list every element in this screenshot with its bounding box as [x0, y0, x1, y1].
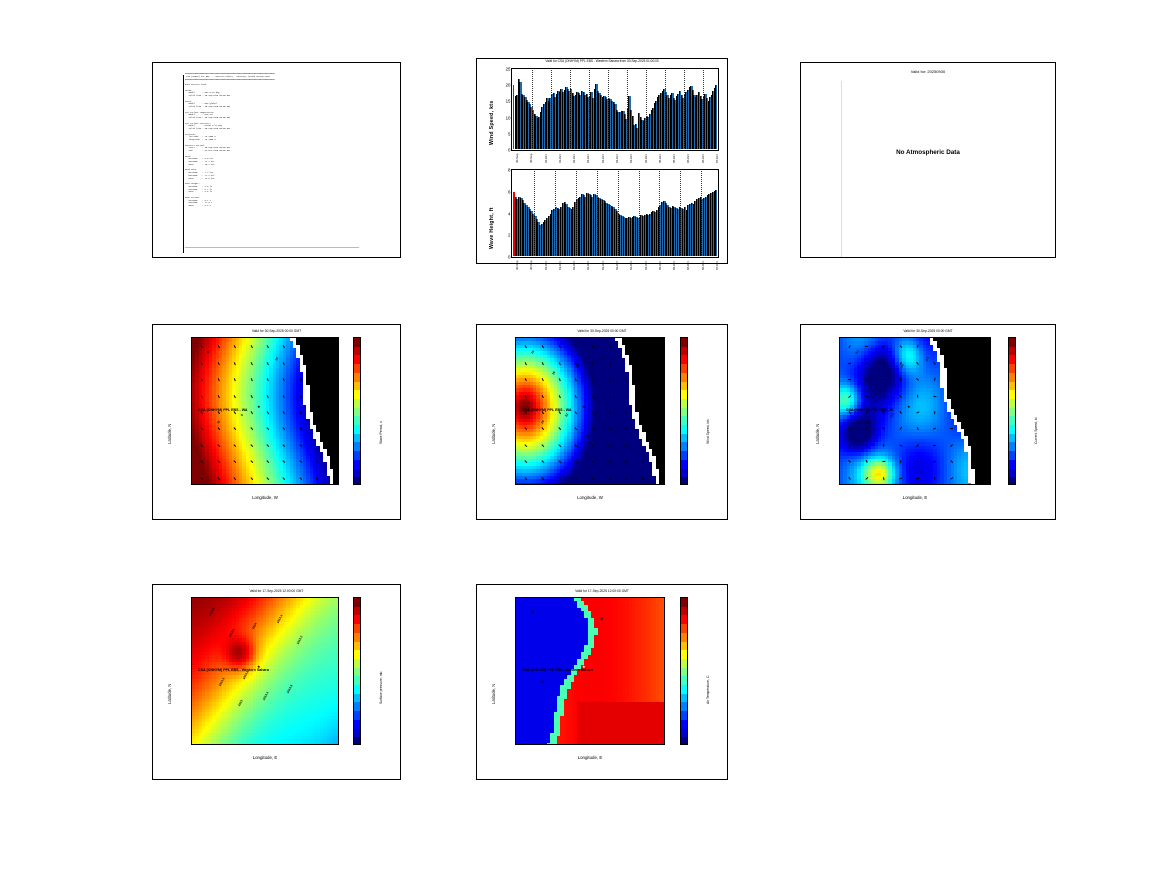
- x-tick-label: 03-Oct: [601, 154, 605, 163]
- x-tick-label: 04-Oct: [644, 154, 648, 163]
- colorbar-segment: [354, 442, 360, 451]
- wave-height-bars: [513, 171, 717, 256]
- colorbar-segment: [354, 399, 360, 408]
- colorbar-segment: [681, 355, 687, 364]
- x-tick-label: 02-Oct: [586, 154, 590, 163]
- timeseries-panel: Valid for CSA (ONHYM) PPL EBS - Western …: [476, 58, 728, 264]
- bar: [715, 190, 717, 256]
- colorbar-segment: [354, 382, 360, 391]
- gridline: [597, 171, 598, 256]
- x-tick-label: 04-Oct: [644, 261, 648, 270]
- gridline: [555, 171, 556, 256]
- report-text: ========================================…: [185, 73, 396, 255]
- map-title: Valid for 30-Sep-2025 00:00 GMT: [801, 329, 1055, 333]
- timeseries-title: Valid for CSA (ONHYM) PPL EBS - Western …: [477, 59, 727, 63]
- colorbar-segment: [681, 469, 687, 478]
- colorbar-segment: [681, 347, 687, 356]
- gridline: [684, 70, 685, 149]
- colorbar-segment: [681, 460, 687, 469]
- x-tick-label: 03-Oct: [615, 154, 619, 163]
- gridline: [576, 171, 577, 256]
- gridline: [532, 70, 533, 149]
- site-marker-star: ★: [582, 405, 586, 409]
- atmos-rule: [841, 81, 842, 257]
- wave-height-ylabel: Wave Height, ft: [489, 207, 495, 249]
- colorbar-segment: [681, 338, 687, 347]
- x-tick-label: 06-Oct: [686, 261, 690, 270]
- y-tick-label: 6: [508, 189, 510, 194]
- x-tick-label: 03-Oct: [615, 261, 619, 270]
- x-tick-label: 02-Oct: [572, 154, 576, 163]
- colorbar-segment: [681, 408, 687, 417]
- colorbar-segment: [681, 442, 687, 451]
- gridline: [608, 70, 609, 149]
- x-tick-label: 05-Oct: [658, 261, 662, 270]
- colorbar-segment: [681, 373, 687, 382]
- y-tick-label: 20: [506, 83, 511, 88]
- colorbar-label: Wind Speed, kts: [706, 419, 710, 444]
- gridline: [627, 70, 628, 149]
- contour-cell: [663, 483, 665, 485]
- atmos-title: Valid for: 20250930: [801, 69, 1055, 74]
- colorbar-segment: [681, 390, 687, 399]
- wind-speed-map-panel: Valid for 30-Sep-2025 00:00 GMT212223201…: [476, 324, 728, 520]
- colorbar-segment: [354, 373, 360, 382]
- colorbar-segment: [681, 451, 687, 460]
- wind-speed-bars: [513, 70, 717, 149]
- x-tick-label: 30-Sep: [529, 261, 533, 270]
- colorbar-segment: [681, 477, 687, 485]
- map-xlabel: Longitude, W: [191, 495, 339, 500]
- wave-period-map-panel: Valid for 30-Sep-2025 00:00 GMT891011CSA…: [152, 324, 401, 520]
- wind-speed-axes: 0510152025: [511, 68, 719, 151]
- y-tick-label: 2: [508, 233, 510, 238]
- colorbar-segment: [354, 364, 360, 373]
- x-tick-label: 01-Oct: [558, 154, 562, 163]
- x-tick-label: 01-Oct: [544, 154, 548, 163]
- x-tick-label: 04-Oct: [629, 261, 633, 270]
- colorbar-segment: [681, 382, 687, 391]
- contour-cell: [337, 483, 339, 485]
- wind-speed-ylabel: Wind Speed, kts: [489, 100, 495, 145]
- gridline: [570, 70, 571, 149]
- y-tick-label: 15: [506, 99, 511, 104]
- x-tick-label: 02-Oct: [586, 261, 590, 270]
- report-panel: ========================================…: [152, 62, 401, 258]
- colorbar-segment: [681, 364, 687, 373]
- x-tick-label: 01-Oct: [544, 261, 548, 270]
- colorbar-segment: [354, 477, 360, 485]
- wave-xtick-row: 30-Sep30-Sep01-Oct01-Oct02-Oct02-Oct03-O…: [511, 258, 719, 272]
- site-label: CSA (ONHYM) PPL EBS - WA: [198, 408, 248, 412]
- colorbar-label: Wave Period, s: [379, 421, 383, 444]
- colorbar-segment: [681, 434, 687, 443]
- site-marker-star: ★: [257, 405, 261, 409]
- x-tick-label: 01-Oct: [558, 261, 562, 270]
- y-tick-label: 4: [508, 211, 510, 216]
- gridline: [659, 171, 660, 256]
- map-xlabel: Longitude, W: [515, 495, 665, 500]
- x-tick-label: 30-Sep: [515, 261, 519, 270]
- site-label: CSA (ONHYM) PPL EBS - WA: [522, 408, 572, 412]
- x-tick-label: 05-Oct: [672, 261, 676, 270]
- current-speed-map-panel: Valid for 30-Sep-2025 00:00 GMT0.10.20.3…: [800, 324, 1056, 520]
- x-tick-label: 05-Oct: [672, 154, 676, 163]
- bar: [715, 85, 717, 149]
- y-tick-label: 25: [506, 67, 511, 72]
- y-tick-label: 8: [508, 168, 510, 173]
- gridline: [589, 70, 590, 149]
- gridline: [639, 171, 640, 256]
- x-tick-label: 30-Sep: [529, 154, 533, 163]
- map-title: Valid for 30-Sep-2025 00:00 GMT: [477, 329, 727, 333]
- x-tick-label: 07-Oct: [715, 154, 719, 163]
- wind-xtick-row: 30-Sep30-Sep01-Oct01-Oct02-Oct02-Oct03-O…: [511, 151, 719, 165]
- x-tick-label: 06-Oct: [686, 154, 690, 163]
- x-tick-label: 06-Oct: [701, 154, 705, 163]
- colorbar-segment: [354, 451, 360, 460]
- gridline: [703, 70, 704, 149]
- map-ylabel: Latitude, N: [491, 423, 496, 443]
- colorbar-segment: [354, 355, 360, 364]
- colorbar-segment: [681, 399, 687, 408]
- gridline: [665, 70, 666, 149]
- colorbar: 1211109876: [353, 337, 361, 485]
- colorbar-segment: [354, 434, 360, 443]
- x-tick-label: 06-Oct: [701, 261, 705, 270]
- colorbar-segment: [354, 390, 360, 399]
- gridline: [680, 171, 681, 256]
- x-tick-label: 05-Oct: [658, 154, 662, 163]
- colorbar-segment: [354, 425, 360, 434]
- gridline: [551, 70, 552, 149]
- map-plot-area[interactable]: 891011CSA (ONHYM) PPL EBS - WA★2423.823.…: [191, 337, 339, 485]
- colorbar-segment: [354, 416, 360, 425]
- x-tick-label: 04-Oct: [629, 154, 633, 163]
- gridline: [618, 171, 619, 256]
- map-plot-area[interactable]: 0.10.20.30.40.5CSA (ONHYM) PPL EBS - W★2…: [839, 337, 991, 485]
- no-atmospheric-data-message: No Atmospheric Data: [801, 149, 1055, 156]
- colorbar-segment: [354, 469, 360, 478]
- report-rule: [183, 75, 184, 253]
- colorbar-segment: [354, 347, 360, 356]
- colorbar-segment: [354, 408, 360, 417]
- y-tick-label: 5: [508, 131, 510, 136]
- gridline: [646, 70, 647, 149]
- x-tick-label: 02-Oct: [572, 261, 576, 270]
- map-plot-area[interactable]: 2122232019181617CSA (ONHYM) PPL EBS - WA…: [515, 337, 665, 485]
- map-title: Valid for 30-Sep-2025 00:00 GMT: [153, 329, 400, 333]
- atmospheric-panel: Valid for: 20250930 No Atmospheric Data: [800, 62, 1056, 258]
- colorbar: 2423222120191817161514: [680, 337, 688, 485]
- colorbar-segment: [681, 425, 687, 434]
- x-tick-label: 30-Sep: [515, 154, 519, 163]
- gridline: [701, 171, 702, 256]
- map-ylabel: Latitude, N: [167, 423, 172, 443]
- colorbar-segment: [354, 460, 360, 469]
- x-tick-label: 03-Oct: [601, 261, 605, 270]
- y-tick-label: 10: [506, 115, 511, 120]
- x-tick-label: 07-Oct: [715, 261, 719, 270]
- wave-height-axes: 02468: [511, 169, 719, 258]
- colorbar-segment: [354, 338, 360, 347]
- gridline: [534, 171, 535, 256]
- colorbar-segment: [681, 416, 687, 425]
